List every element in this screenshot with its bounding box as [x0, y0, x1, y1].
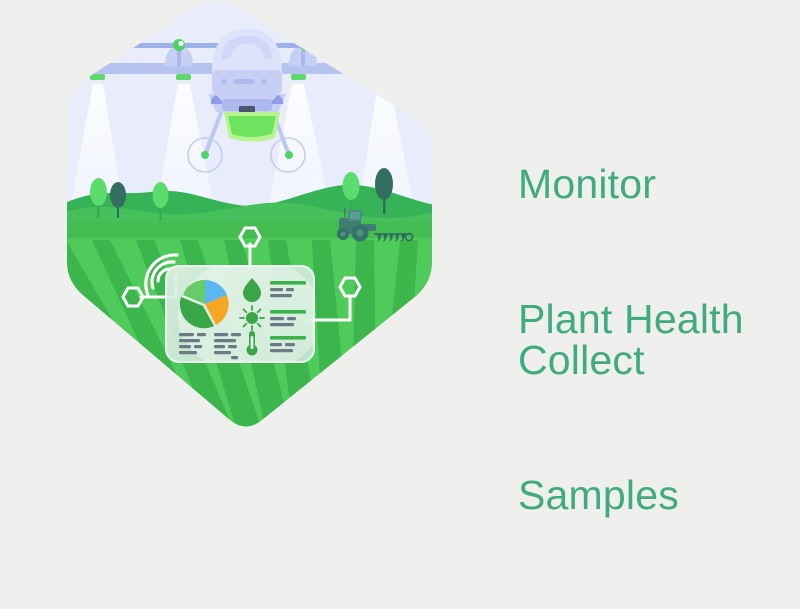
field-data-dashboard[interactable] [166, 258, 322, 374]
tree-light-3 [343, 172, 360, 200]
illustration-stage: Monitor Plant Health Collect Samples [0, 0, 800, 445]
gear-tip-right [285, 151, 293, 159]
metric-bar-sunlight [270, 310, 306, 314]
liquid-tank-fill [228, 116, 276, 137]
tractor-window [350, 212, 360, 219]
propeller-hub-right [300, 39, 312, 51]
drone-fuselage [208, 29, 286, 114]
tree-dark-2 [375, 168, 393, 200]
tractor-exhaust [344, 208, 346, 217]
headline-block-collect: Collect Samples [518, 248, 679, 609]
scene-clipped-group [48, 0, 445, 445]
sun-icon [240, 306, 264, 330]
metric-bar-moisture [270, 281, 306, 285]
tree-light-1 [90, 178, 107, 206]
metric-bar-temperature [270, 336, 306, 340]
tree-dark-1 [110, 182, 126, 208]
headline-copy-column: Monitor Plant Health Collect Samples [518, 0, 800, 445]
agriculture-scene-illustration [0, 0, 480, 445]
headline-line-1: Monitor [518, 162, 744, 207]
drone-vent [233, 79, 255, 84]
tree-light-2 [153, 182, 169, 208]
headline-line-4: Samples [518, 473, 679, 518]
gear-tip-left [201, 151, 209, 159]
headline-line-3: Collect [518, 338, 679, 383]
